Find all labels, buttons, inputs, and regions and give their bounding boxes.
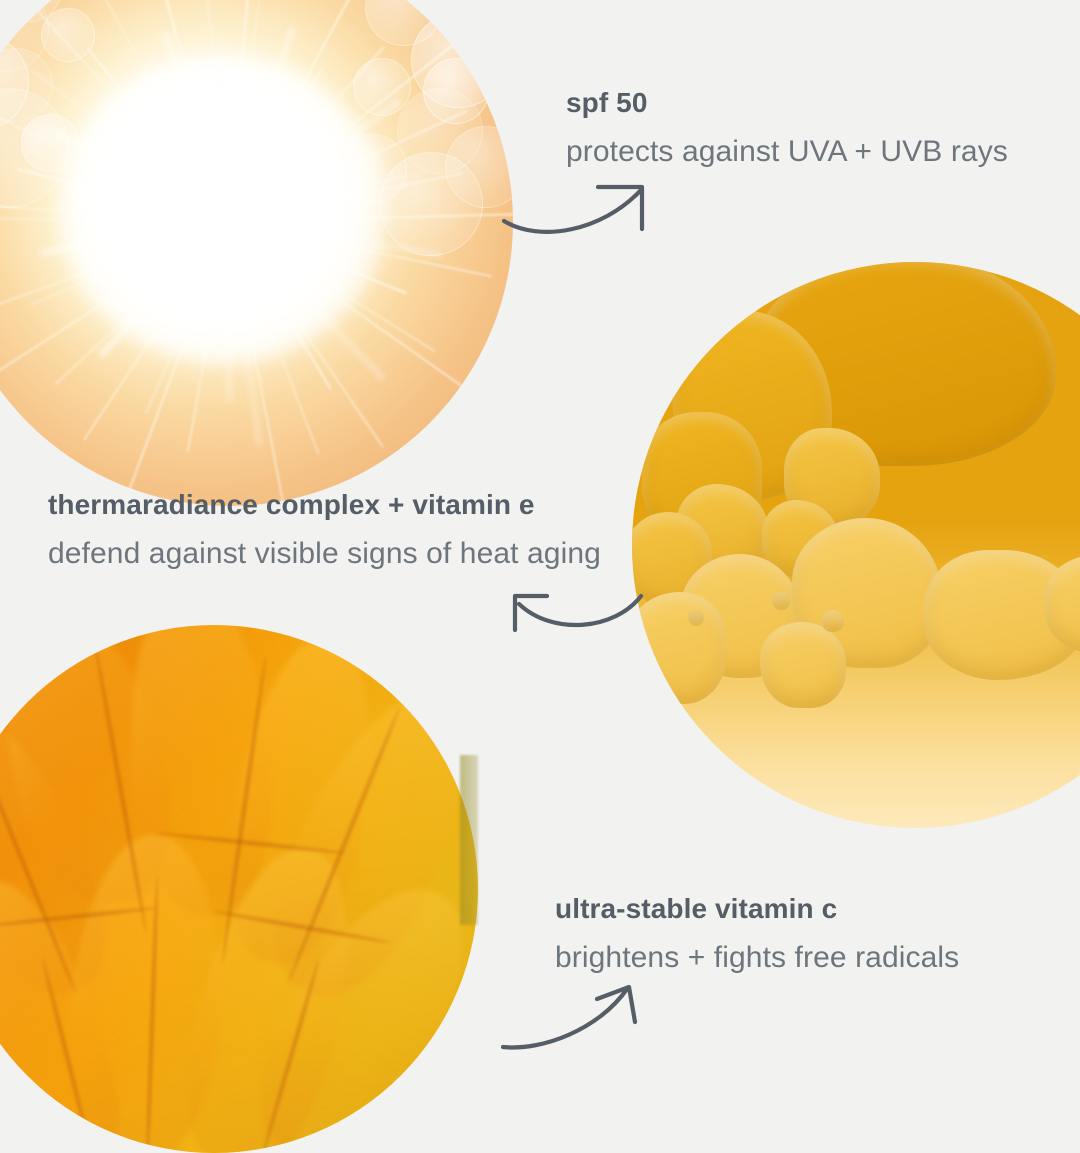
curved-arrow-up-right-icon xyxy=(495,975,655,1055)
curved-arrow-up-left-icon xyxy=(505,578,645,643)
citrus-macro-circle xyxy=(0,625,478,1153)
curved-arrow-up-right-icon xyxy=(500,165,670,245)
infographic-canvas: spf 50 protects against UVA + UVB rays t… xyxy=(0,0,1080,1080)
sun-flare-circle xyxy=(0,0,513,506)
benefit-subheading-thermaradiance: defend against visible signs of heat agi… xyxy=(48,535,601,573)
benefit-heading-thermaradiance: thermaradiance complex + vitamin e xyxy=(48,488,601,522)
oil-droplets-circle xyxy=(632,262,1080,828)
benefit-heading-vitamin-c: ultra-stable vitamin c xyxy=(555,892,959,926)
citrus-edge-band xyxy=(460,755,478,925)
benefit-block-vitamin-c: ultra-stable vitamin c brightens + fight… xyxy=(555,892,959,976)
benefit-heading-spf: spf 50 xyxy=(566,86,1008,120)
benefit-block-thermaradiance: thermaradiance complex + vitamin e defen… xyxy=(48,488,601,572)
benefit-block-spf: spf 50 protects against UVA + UVB rays xyxy=(566,86,1008,170)
benefit-subheading-vitamin-c: brightens + fights free radicals xyxy=(555,939,959,977)
